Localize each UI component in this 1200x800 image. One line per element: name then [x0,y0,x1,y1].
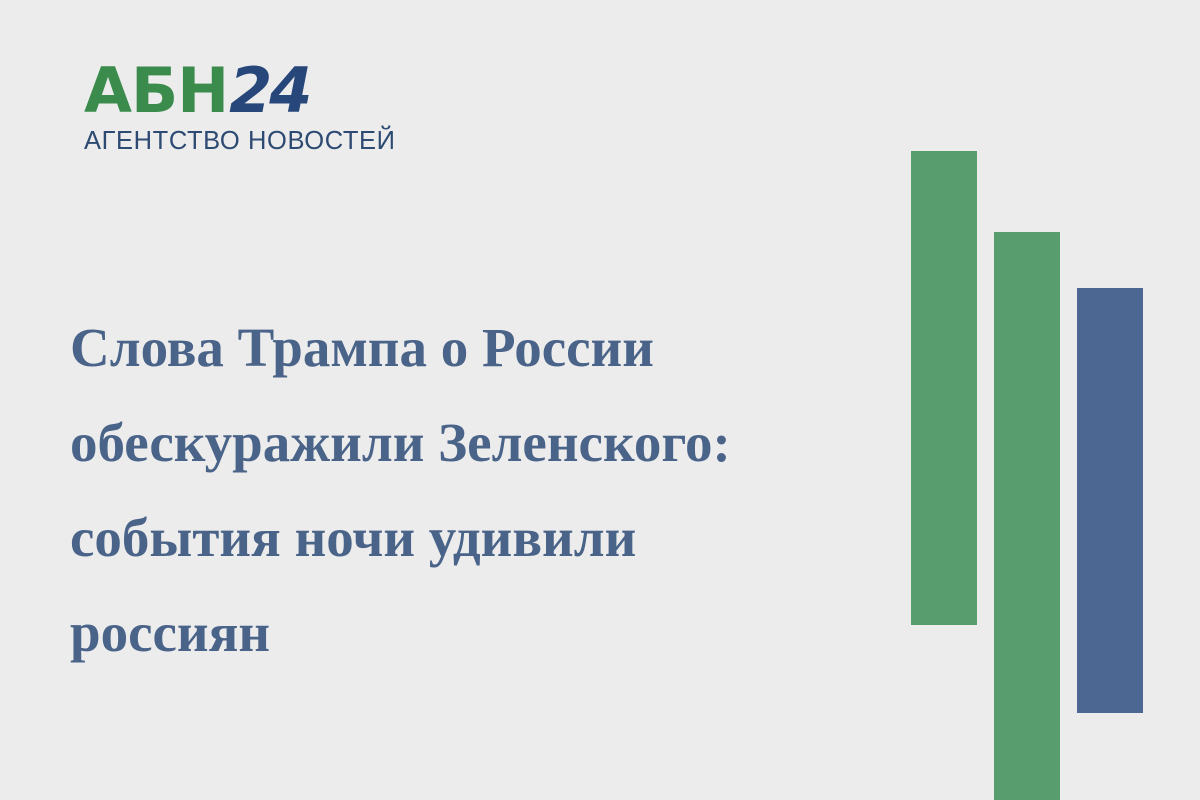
decorative-bar-1 [911,151,977,625]
logo-24-text: 24 [229,54,309,127]
decorative-bar-2 [994,232,1060,800]
headline: Слова Трампа о России обескуражили Зелен… [70,300,860,680]
headline-line-2: обескуражили Зеленского: [70,395,860,490]
logo-wordmark: АБН24 [84,60,384,122]
headline-line-4: россиян [70,585,860,680]
abn24-logo[interactable]: АБН24 АГЕНТСТВО НОВОСТЕЙ [84,60,384,165]
headline-line-1: Слова Трампа о России [70,300,860,395]
headline-line-3: события ночи удивили [70,490,860,585]
logo-abn-text: АБН [84,54,228,127]
decorative-bar-3 [1077,288,1143,713]
news-card: АБН24 АГЕНТСТВО НОВОСТЕЙ Слова Трампа о … [0,0,1200,800]
logo-tagline: АГЕНТСТВО НОВОСТЕЙ [84,127,384,156]
